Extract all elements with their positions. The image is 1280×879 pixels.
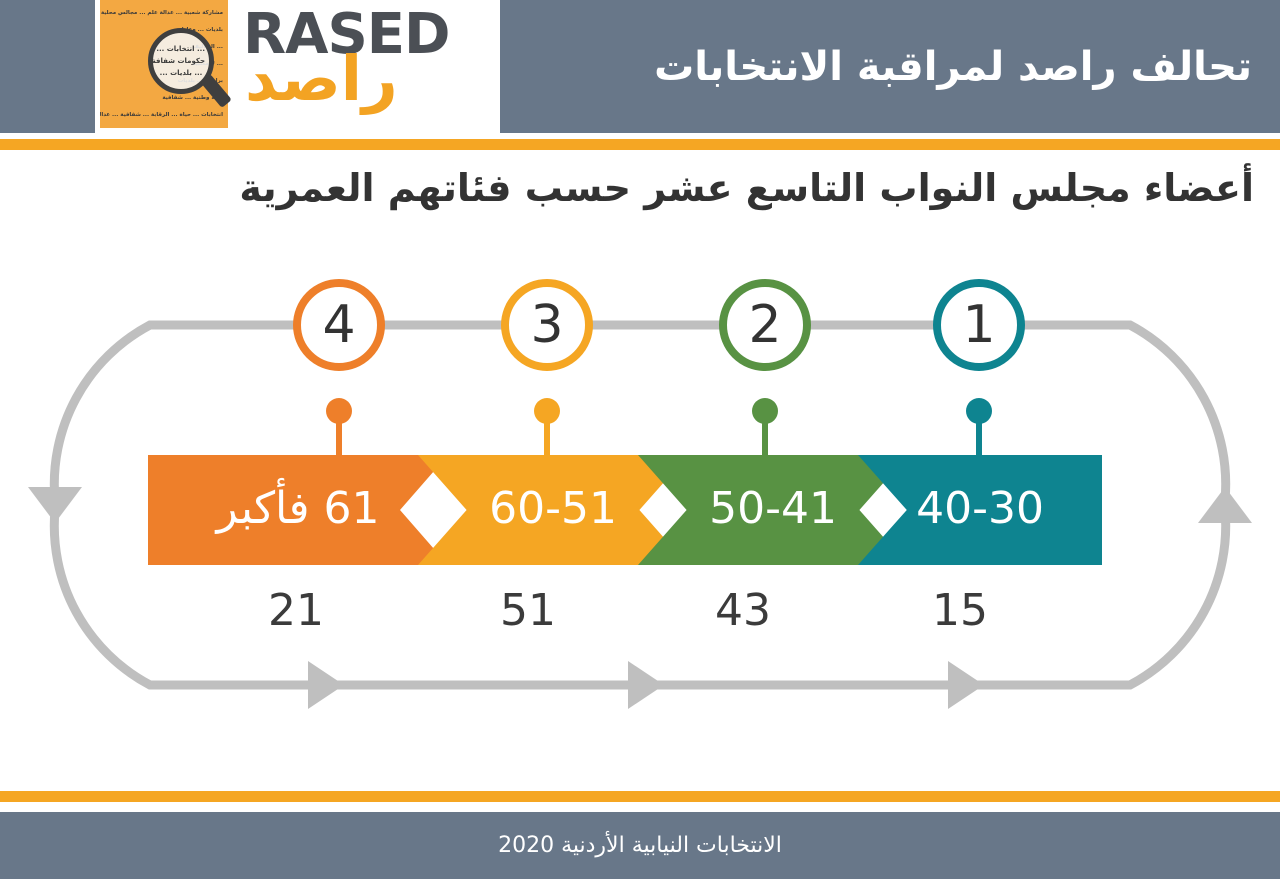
count-value: 43 (715, 585, 771, 636)
magnifier-lens-text: ... انتخابات ... برلمان حكومات شفافة ...… (157, 41, 205, 81)
rased-logo: مشاركة شعبية ... عدالة علم ... مجالس محل… (95, 0, 500, 133)
magnifier-lens: ... انتخابات ... برلمان حكومات شفافة ...… (148, 28, 214, 94)
count-value: 15 (932, 585, 988, 636)
band-label: 50-41 (709, 483, 837, 538)
bottom-arrowhead-1-icon (308, 661, 344, 709)
logo-wordmark-ar: راصد (245, 48, 398, 110)
pin-head-4 (326, 398, 352, 424)
lens-line: ... انتخابات ... برلمان (157, 45, 205, 53)
band-label: 60-51 (489, 483, 617, 538)
logo-panel-line: مشاركة شعبية ... عدالة علم ... مجالس محل… (105, 10, 223, 16)
loop-arrowhead-right-up-icon (1198, 487, 1252, 523)
count-41-50: 43 (663, 585, 823, 636)
step-badge-label: 2 (748, 299, 781, 351)
band-label: 40-30 (916, 483, 1044, 538)
count-value: 51 (500, 585, 556, 636)
footer-bar: الانتخابات النيابية الأردنية 2020 (0, 812, 1280, 879)
bottom-arrowhead-2-icon (628, 661, 664, 709)
footer-caption: الانتخابات النيابية الأردنية 2020 (498, 833, 782, 858)
band-label: 61 فأكبر (217, 483, 380, 538)
lens-line: ... بلديات ... (157, 69, 205, 77)
page-title: تحالف راصد لمراقبة الانتخابات (654, 0, 1252, 133)
pin-head-1 (966, 398, 992, 424)
age-groups-diagram: 61 فأكبر 60-51 50-41 40-30 4 3 2 (0, 255, 1280, 755)
count-51-60: 51 (448, 585, 608, 636)
pin-head-3 (534, 398, 560, 424)
logo-panel-line: انتخابات ... حياة ... الرقابة ... شفافية… (105, 112, 223, 118)
step-badge-2[interactable]: 2 (719, 279, 811, 371)
infographic-page: مشاركة شعبية ... عدالة علم ... مجالس محل… (0, 0, 1280, 879)
loop-arrowhead-left-down-icon (28, 487, 82, 523)
bottom-arrowhead-3-icon (948, 661, 984, 709)
lens-line: حكومات شفافة (157, 57, 205, 65)
divider-bottom (0, 791, 1280, 802)
divider-top (0, 139, 1280, 150)
pin-head-2 (752, 398, 778, 424)
step-badge-label: 4 (322, 299, 355, 351)
step-badge-label: 1 (962, 299, 995, 351)
magnifying-glass-icon: ... انتخابات ... برلمان حكومات شفافة ...… (148, 28, 226, 106)
step-badge-label: 3 (530, 299, 563, 351)
count-30-40: 15 (880, 585, 1040, 636)
step-badge-1[interactable]: 1 (933, 279, 1025, 371)
step-badge-4[interactable]: 4 (293, 279, 385, 371)
count-61-plus: 21 (216, 585, 376, 636)
chart-title: أعضاء مجلس النواب التاسع عشر حسب فئاتهم … (24, 166, 1254, 210)
count-value: 21 (268, 585, 324, 636)
step-badge-3[interactable]: 3 (501, 279, 593, 371)
